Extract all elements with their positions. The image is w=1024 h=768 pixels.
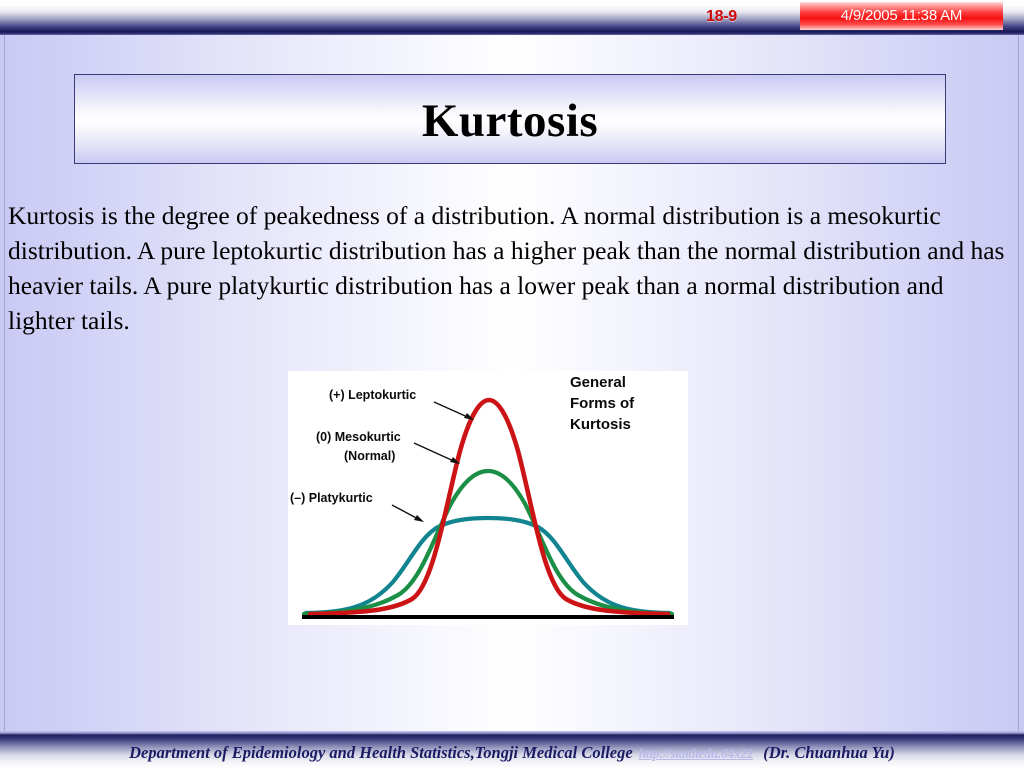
title-box: Kurtosis [74,74,946,164]
datetime-label: 4/9/2005 11:38 AM [800,7,1003,24]
slide-edge-left [4,35,5,735]
chart-title-line-3: Kurtosis [570,416,631,433]
body-paragraph: Kurtosis is the degree of peakedness of … [8,198,1008,338]
footer-organization: Department of Epidemiology and Health St… [129,743,633,762]
chart-title-line-2: Forms of [570,395,635,412]
annotation-mesokurtic-label: (0) Mesokurtic [316,430,401,444]
annotation-platykurtic-label: (–) Platykurtic [290,491,373,505]
kurtosis-figure: General Forms of Kurtosis (+) Leptokurti… [288,371,688,625]
datetime-box: 4/9/2005 11:38 AM [800,2,1003,30]
annotation-mesokurtic-label-2: (Normal) [344,449,395,463]
annotation-leptokurtic-label: (+) Leptokurtic [329,388,416,402]
slide: 18-9 4/9/2005 11:38 AM Kurtosis Kurtosis… [0,0,1024,768]
footer-link[interactable]: http://statdtedu.64x22 [639,746,754,761]
kurtosis-chart-svg: General Forms of Kurtosis (+) Leptokurti… [288,371,688,625]
footer-author: (Dr. Chuanhua Yu) [763,743,895,762]
slide-edge-right [1018,35,1019,735]
chart-title-line-1: General [570,374,626,391]
page-title: Kurtosis [75,94,945,148]
slide-number: 18-9 [706,8,737,26]
top-header-underline [0,31,1024,35]
footer: Department of Epidemiology and Health St… [0,743,1024,763]
